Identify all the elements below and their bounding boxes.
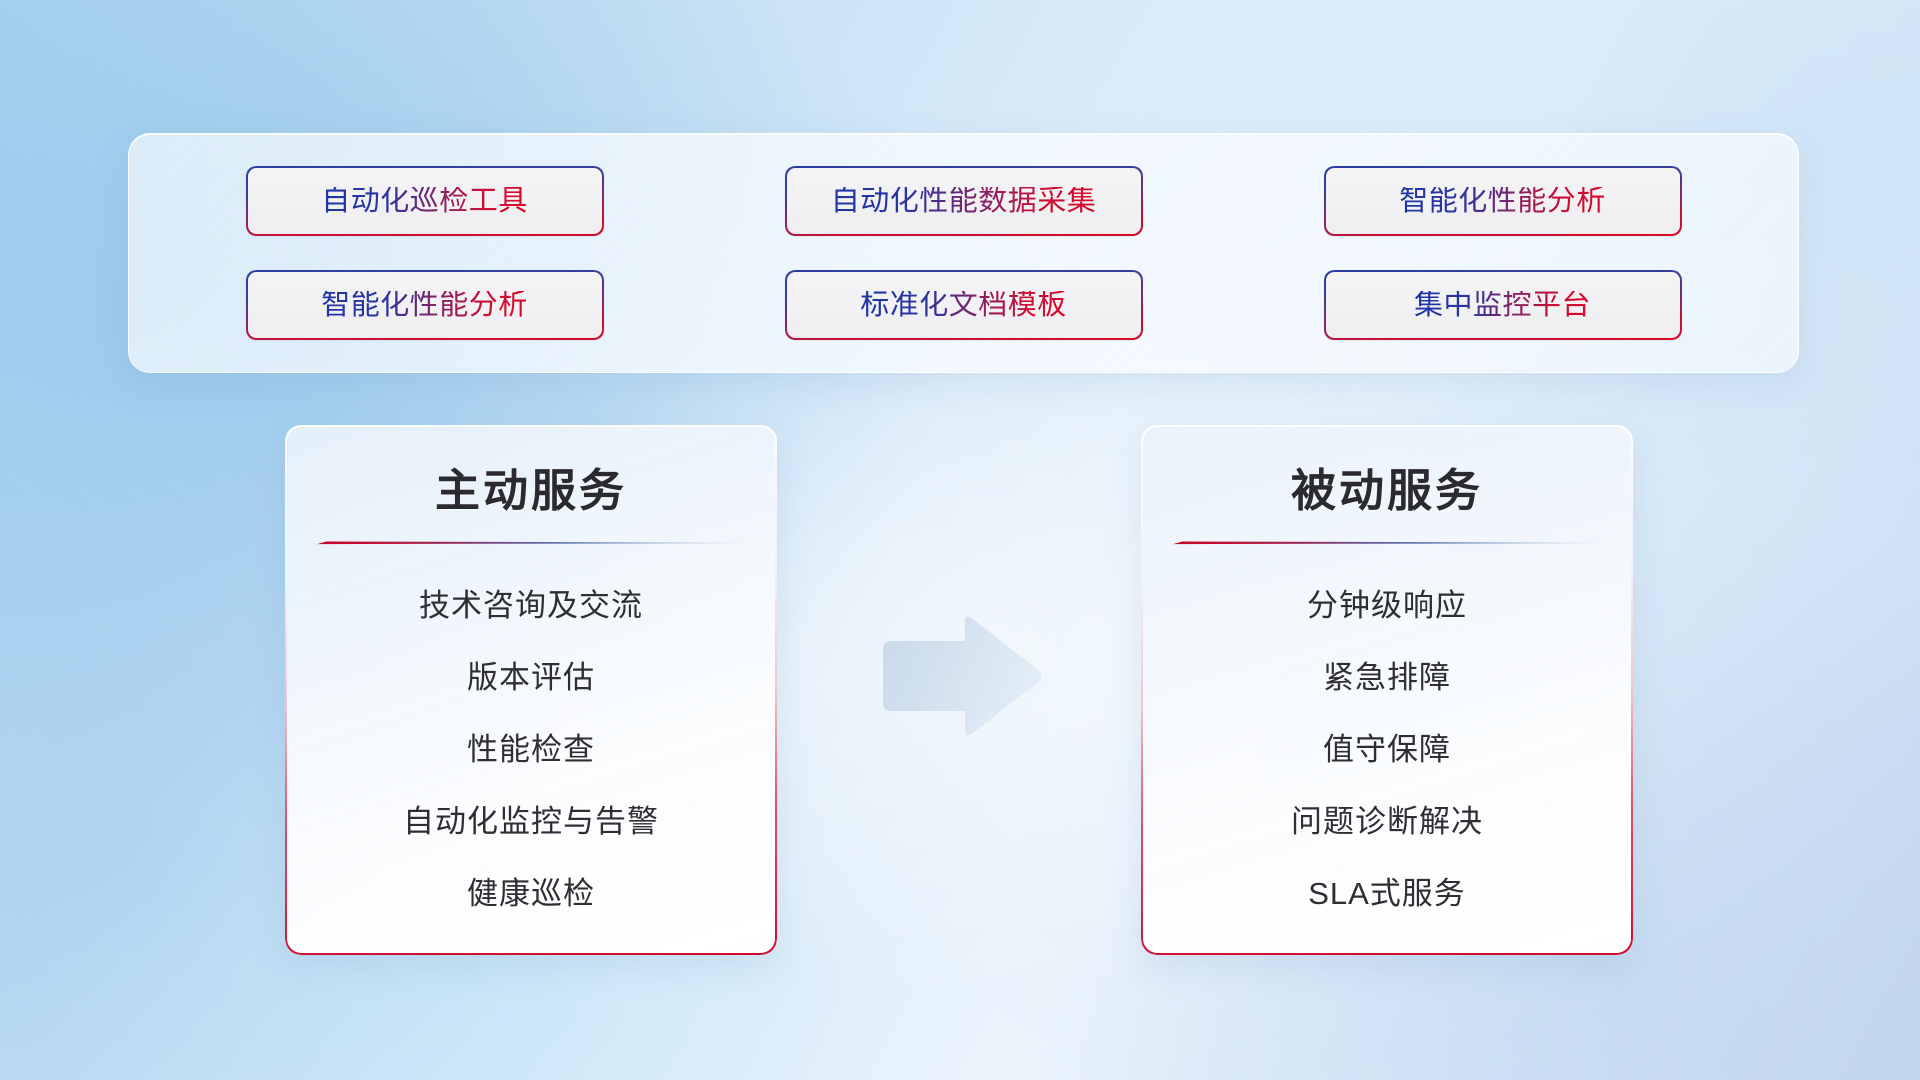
title-divider	[317, 541, 745, 545]
capability-pill-label: 智能化性能分析	[321, 291, 528, 320]
title-divider	[1173, 541, 1601, 545]
service-list-item: 版本评估	[467, 641, 595, 713]
service-card-body: 被动服务 分钟级响应 紧急排障 值守保障 问题诊断解决 SLA式服务	[1141, 425, 1633, 955]
capability-pill-label: 智能化性能分析	[1399, 187, 1606, 216]
capability-pill-2[interactable]: 自动化性能数据采集	[785, 166, 1143, 236]
capability-pill-3[interactable]: 智能化性能分析	[1324, 166, 1682, 236]
service-item-list: 技术咨询及交流 版本评估 性能检查 自动化监控与告警 健康巡检	[319, 569, 743, 929]
service-list-item: 自动化监控与告警	[403, 785, 659, 857]
service-list-item: 技术咨询及交流	[419, 569, 643, 641]
capability-pill-5[interactable]: 标准化文档模板	[785, 270, 1143, 340]
service-list-item: 紧急排障	[1323, 641, 1451, 713]
capability-pill-label: 集中监控平台	[1414, 291, 1591, 320]
capability-pill-6[interactable]: 集中监控平台	[1324, 270, 1682, 340]
service-list-item: SLA式服务	[1308, 857, 1466, 929]
service-list-item: 值守保障	[1323, 713, 1451, 785]
capability-pill-4[interactable]: 智能化性能分析	[246, 270, 604, 340]
capability-pill-label: 自动化巡检工具	[321, 187, 528, 216]
service-list-item: 性能检查	[467, 713, 595, 785]
service-list-item: 健康巡检	[467, 857, 595, 929]
service-card-active: 主动服务 技术咨询及交流 版本评估 性能检查 自动化监控与告警 健康巡检	[285, 425, 777, 955]
service-card-passive: 被动服务 分钟级响应 紧急排障 值守保障 问题诊断解决 SLA式服务	[1141, 425, 1633, 955]
service-card-title: 被动服务	[1291, 465, 1483, 517]
service-card-title: 主动服务	[435, 465, 627, 517]
service-list-item: 分钟级响应	[1307, 569, 1467, 641]
capability-pill-label: 标准化文档模板	[860, 291, 1067, 320]
capability-pill-grid: 自动化巡检工具 自动化性能数据采集 智能化性能分析 智能化性能分析 标准化文档模…	[129, 134, 1798, 372]
capability-pill-label: 自动化性能数据采集	[831, 187, 1097, 216]
service-list-item: 问题诊断解决	[1291, 785, 1483, 857]
service-card-body: 主动服务 技术咨询及交流 版本评估 性能检查 自动化监控与告警 健康巡检	[285, 425, 777, 955]
slide-canvas: 自动化巡检工具 自动化性能数据采集 智能化性能分析 智能化性能分析 标准化文档模…	[0, 0, 1920, 1080]
arrow-right-icon	[875, 612, 1045, 742]
service-item-list: 分钟级响应 紧急排障 值守保障 问题诊断解决 SLA式服务	[1175, 569, 1599, 929]
capability-pill-1[interactable]: 自动化巡检工具	[246, 166, 604, 236]
capability-panel: 自动化巡检工具 自动化性能数据采集 智能化性能分析 智能化性能分析 标准化文档模…	[128, 133, 1799, 373]
